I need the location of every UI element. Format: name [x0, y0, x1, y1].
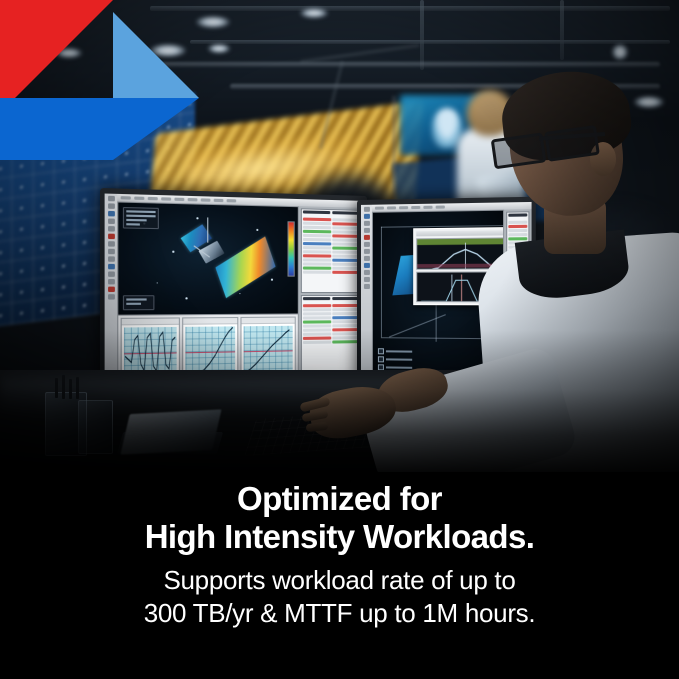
table-cell [303, 266, 331, 269]
table-cell [303, 320, 331, 323]
menu-item[interactable] [174, 198, 184, 201]
menu-item[interactable] [214, 199, 224, 202]
toolbar-icon[interactable] [107, 256, 114, 261]
table-cell [303, 238, 331, 241]
menu-item[interactable] [227, 199, 237, 202]
table-cell [303, 316, 331, 319]
table-cell [332, 259, 359, 262]
table-cell [332, 340, 359, 343]
ceiling-lamp [208, 44, 230, 53]
pen [69, 379, 72, 399]
ceiling-beam [420, 0, 424, 70]
headline-line-2: High Intensity Workloads. [145, 518, 535, 556]
table-cell [303, 234, 331, 238]
menu-item[interactable] [134, 197, 144, 200]
toolbar-icon[interactable] [363, 242, 369, 247]
table-cell [303, 271, 331, 274]
toolbar-icon[interactable] [363, 235, 369, 240]
table-cell [303, 250, 331, 253]
satellite-3d-viewport[interactable] [117, 201, 299, 315]
menu-item[interactable] [161, 197, 171, 200]
right-app-toolbar[interactable] [361, 205, 372, 378]
menu-item[interactable] [423, 206, 432, 209]
table-cell [332, 336, 359, 339]
chart-title-bar [183, 318, 238, 325]
table-cell [303, 226, 331, 230]
star [256, 229, 258, 231]
table-cell [303, 328, 331, 331]
star [196, 217, 198, 219]
table-column [332, 218, 359, 290]
star [239, 293, 240, 294]
toolbar-icon[interactable] [107, 241, 114, 246]
pen-holder-secondary [78, 400, 113, 454]
table-cell [303, 218, 331, 222]
left-viewport-wrap [117, 201, 299, 385]
legend-label [386, 350, 412, 352]
table-cell [303, 258, 331, 261]
ceiling-lamp [56, 48, 82, 58]
table-cell [332, 312, 359, 315]
table-cell [303, 308, 331, 311]
table-column [303, 304, 331, 377]
table-cell [332, 332, 359, 335]
toolbar-icon[interactable] [363, 214, 369, 219]
toolbar-icon[interactable] [107, 218, 114, 224]
toolbar-icon[interactable] [363, 263, 369, 268]
table-cell [303, 304, 331, 307]
ceiling-beam [150, 6, 670, 11]
document-stack [120, 409, 221, 454]
ceiling-beam [560, 0, 564, 60]
toolbar-icon[interactable] [107, 279, 114, 284]
thermal-color-legend [288, 221, 295, 276]
menu-item[interactable] [387, 206, 396, 209]
table-cell [332, 242, 359, 245]
sub-line-2: 300 TB/yr & MTTF up to 1M hours. [144, 597, 536, 630]
ceiling-pipe [120, 62, 660, 67]
table-cell [332, 255, 359, 258]
table-cell [303, 246, 331, 249]
star [157, 282, 159, 283]
left-app-body [117, 194, 363, 386]
menu-item[interactable] [375, 207, 384, 210]
left-data-panel[interactable] [299, 206, 363, 381]
table-cell [303, 222, 331, 226]
table-cell [332, 304, 359, 307]
legend-swatch-icon [378, 356, 384, 362]
table-cell [332, 226, 359, 230]
table-cell [303, 254, 331, 257]
table-cell [332, 251, 359, 254]
chart-plot-area [244, 326, 293, 376]
table-cell [303, 262, 331, 265]
legend-label [386, 358, 412, 360]
table-cell [303, 336, 331, 339]
toolbar-icon[interactable] [363, 277, 369, 282]
table-cell [332, 247, 359, 250]
toolbar-icon[interactable] [363, 221, 369, 226]
left-app-toolbar[interactable] [105, 194, 118, 387]
caption-block: Optimized for High Intensity Workloads. … [0, 472, 679, 679]
toolbar-icon[interactable] [107, 249, 114, 254]
engineer [440, 70, 679, 500]
table-body [302, 216, 360, 291]
pen [62, 375, 65, 399]
monitor-left[interactable] [100, 188, 367, 396]
menu-item[interactable] [121, 196, 131, 200]
headline-line-1: Optimized for [145, 480, 535, 518]
chart-line-power [244, 326, 293, 376]
viewport-info-panel [123, 207, 159, 229]
data-table[interactable] [301, 208, 361, 292]
ceiling-beam [190, 40, 670, 44]
left-app-main [117, 201, 363, 385]
legend-swatch-icon [378, 348, 384, 354]
table-cell [303, 332, 331, 335]
toolbar-icon[interactable] [107, 287, 114, 292]
viewport-status-panel [123, 295, 155, 310]
menu-item[interactable] [148, 197, 158, 200]
table-cell [332, 328, 359, 331]
legend-item [378, 356, 412, 362]
table-cell [332, 308, 359, 311]
toolbar-icon[interactable] [363, 270, 369, 275]
toolbar-icon[interactable] [107, 203, 114, 209]
star [172, 251, 174, 253]
table-cell [303, 242, 331, 245]
toolbar-icon[interactable] [107, 211, 114, 217]
toolbar-icon[interactable] [107, 264, 114, 269]
menu-item[interactable] [399, 206, 408, 209]
table-cell [303, 324, 331, 327]
axis-line [389, 314, 446, 337]
table-body [302, 303, 360, 378]
table-column [332, 304, 359, 376]
toolbar-icon[interactable] [363, 249, 369, 254]
table-cell [303, 230, 331, 234]
toolbar-icon[interactable] [107, 234, 114, 240]
satellite-boom [207, 217, 208, 242]
legend-item [378, 348, 412, 354]
star [271, 279, 273, 281]
table-cell [303, 312, 331, 315]
data-table[interactable] [301, 295, 361, 379]
table-cell [332, 230, 359, 234]
menu-item[interactable] [201, 198, 211, 201]
table-cell [332, 271, 359, 274]
star [185, 297, 187, 299]
legend-label [386, 366, 412, 368]
toolbar-icon[interactable] [107, 271, 114, 276]
table-cell [332, 218, 359, 222]
toolbar-icon[interactable] [363, 207, 369, 212]
ceiling-lamp [612, 44, 628, 60]
pen [55, 378, 58, 398]
table-cell [303, 340, 331, 343]
chart-title-bar [122, 318, 179, 325]
pen [76, 377, 79, 399]
toolbar-icon[interactable] [363, 284, 369, 289]
toolbar-icon[interactable] [107, 226, 114, 232]
cad-legend [378, 348, 412, 371]
table-cell [332, 263, 359, 266]
ceiling-lamp [300, 8, 328, 18]
chart-title-bar [242, 318, 295, 325]
photo-scene [0, 0, 679, 500]
ceiling-lamp [196, 16, 230, 28]
promo-image: Optimized for High Intensity Workloads. … [0, 0, 679, 679]
satellite-solar-wing-lower [215, 236, 275, 298]
table-cell [332, 324, 359, 327]
table-cell [332, 238, 359, 241]
construction-line [381, 227, 382, 338]
table-cell [332, 316, 359, 319]
toolbar-icon[interactable] [363, 256, 369, 261]
headline: Optimized for High Intensity Workloads. [145, 480, 535, 556]
toolbar-icon[interactable] [107, 196, 114, 202]
table-cell [332, 267, 359, 270]
toolbar-icon[interactable] [107, 294, 114, 299]
monitor-left-screen[interactable] [105, 194, 363, 387]
table-column [303, 218, 331, 291]
menu-item[interactable] [188, 198, 198, 201]
table-cell [332, 234, 359, 237]
table-cell [332, 222, 359, 226]
toolbar-icon[interactable] [363, 228, 369, 233]
ceiling-lamp [150, 44, 186, 57]
menu-item[interactable] [411, 206, 420, 209]
subheadline: Supports workload rate of up to 300 TB/y… [144, 564, 536, 630]
sub-line-1: Supports workload rate of up to [144, 564, 536, 597]
table-cell [332, 320, 359, 323]
